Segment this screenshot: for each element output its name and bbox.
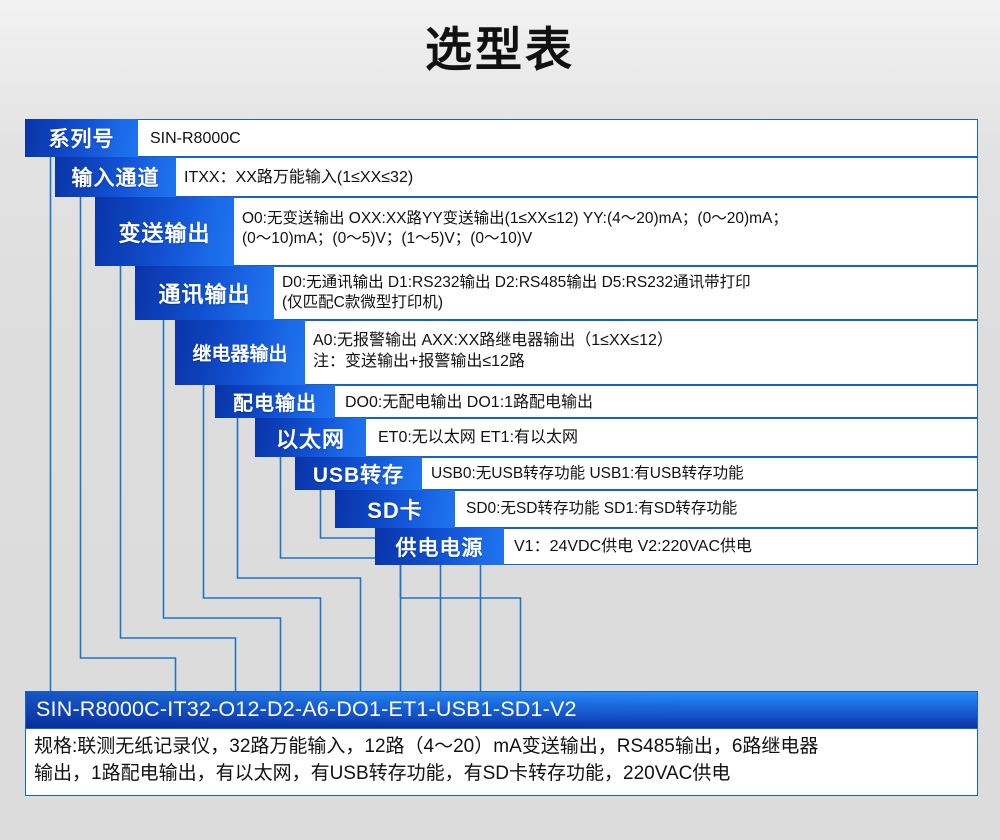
row-tag-power-distribution-output[interactable]: 配电输出 [215,385,335,418]
spec-row-usb-transfer: USB0:无USB转存功能 USB1:有USB转存功能 USB转存 [295,457,978,490]
spec-row-series: SIN-R8000C 系列号 [25,119,978,157]
spec-row-power-supply: V1：24VDC供电 V2:220VAC供电 供电电源 [375,528,978,565]
row-description-series: SIN-R8000C [25,119,978,157]
row-description-input-channel: ITXX：XX路万能输入(1≤XX≤32) [55,157,978,197]
row-tag-sd-card[interactable]: SD卡 [335,490,455,528]
spec-row-transmit-output: O0:无变送输出 OXX:XX路YY变送输出(1≤XX≤12) YY:(4～20… [95,197,978,266]
row-tag-transmit-output[interactable]: 变送输出 [95,197,234,266]
spec-row-communication-output: D0:无通讯输出 D1:RS232输出 D2:RS485输出 D5:RS232通… [135,266,978,320]
result-block: SIN-R8000C-IT32-O12-D2-A6-DO1-ET1-USB1-S… [25,691,978,796]
selection-table-page: 选型表 SIN-R8000C [0,0,1000,840]
result-model-code: SIN-R8000C-IT32-O12-D2-A6-DO1-ET1-USB1-S… [25,691,978,728]
row-tag-series[interactable]: 系列号 [25,119,138,157]
row-tag-ethernet[interactable]: 以太网 [255,418,366,457]
spec-row-power-distribution-output: DO0:无配电输出 DO1:1路配电输出 配电输出 [215,385,978,418]
row-tag-usb-transfer[interactable]: USB转存 [295,457,422,490]
row-tag-power-supply[interactable]: 供电电源 [375,528,504,565]
spec-row-ethernet: ET0:无以太网 ET1:有以太网 以太网 [255,418,978,457]
result-specification: 规格:联测无纸记录仪，32路万能输入，12路（4～20）mA变送输出，RS485… [25,728,978,796]
ladder-rows: SIN-R8000C 系列号 ITXX：XX路万能输入(1≤XX≤32) 输入通… [0,0,1000,600]
row-tag-communication-output[interactable]: 通讯输出 [135,266,274,320]
row-tag-input-channel[interactable]: 输入通道 [55,157,176,197]
row-tag-relay-output[interactable]: 继电器输出 [175,320,305,385]
spec-row-sd-card: SD0:无SD转存功能 SD1:有SD转存功能 SD卡 [335,490,978,528]
spec-row-relay-output: A0:无报警输出 AXX:XX路继电器输出（1≤XX≤12） 注：变送输出+报警… [175,320,978,385]
spec-row-input-channel: ITXX：XX路万能输入(1≤XX≤32) 输入通道 [55,157,978,197]
